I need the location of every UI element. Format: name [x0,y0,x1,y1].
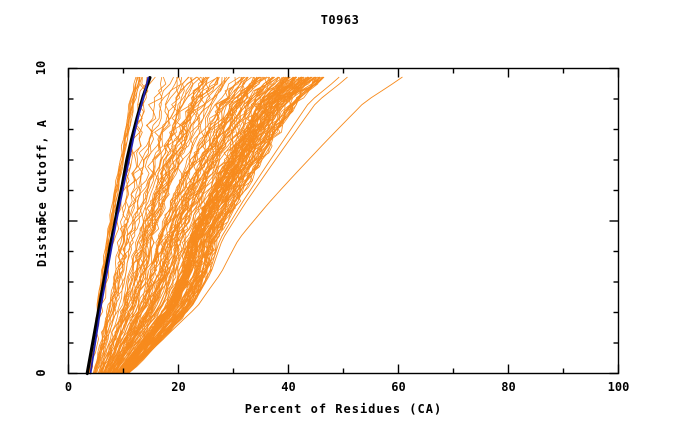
curves-group [87,77,402,373]
x-tick-label: 100 [608,380,630,394]
x-axis-title: Percent of Residues (CA) [68,402,619,416]
y-axis-title: Distance Cutoff, A [35,73,49,313]
x-tick-label: 20 [171,380,185,394]
x-tick-label: 0 [65,380,72,394]
chart-figure: T0963 Distance Cutoff, A Percent of Resi… [0,0,680,440]
plot-area [0,0,680,440]
y-tick-label: 10 [34,57,48,79]
y-tick-label: 5 [34,209,48,231]
y-tick-label: 0 [34,362,48,384]
x-tick-label: 40 [281,380,295,394]
x-tick-label: 80 [501,380,515,394]
x-tick-label: 60 [391,380,405,394]
